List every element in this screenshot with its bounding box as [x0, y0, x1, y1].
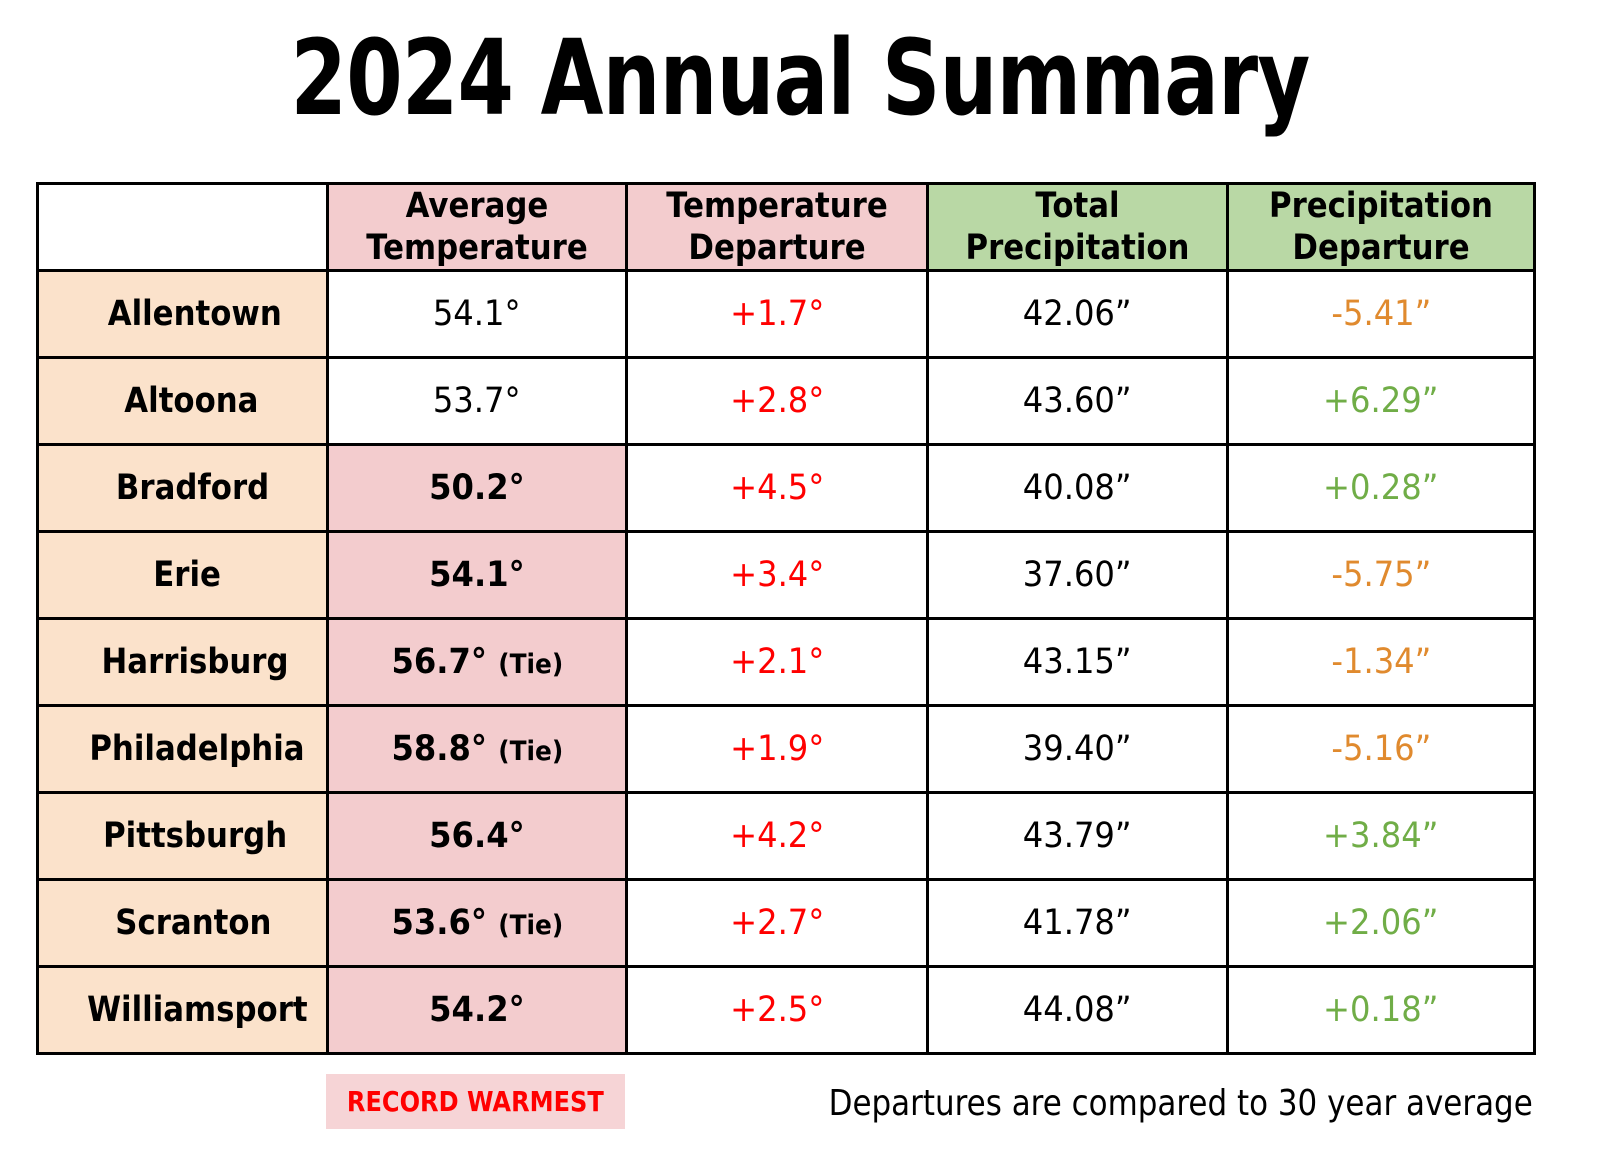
cell-precipitation-departure: +0.18” — [1228, 967, 1535, 1054]
average-temperature-value: 58.8° — [391, 729, 487, 769]
cell-precipitation-departure: -5.75” — [1228, 532, 1535, 619]
cell-precipitation-departure: -5.16” — [1228, 706, 1535, 793]
cell-temperature-departure: +4.5° — [627, 445, 928, 532]
column-header-line: Departure — [688, 228, 865, 268]
cell-average-temperature: 53.7° — [328, 358, 627, 445]
cell-precipitation-departure: +2.06” — [1228, 880, 1535, 967]
average-temperature-value: 56.7° — [391, 642, 487, 682]
corner-cell — [38, 184, 328, 271]
average-temperature-value: 54.2° — [429, 990, 525, 1030]
cell-total-precipitation: 43.60” — [928, 358, 1228, 445]
table-body: Allentown54.1°+1.7°42.06”-5.41”Altoona53… — [38, 271, 1535, 1054]
precipitation-departure-value: +2.06” — [1323, 903, 1438, 943]
cell-average-temperature: 56.7° (Tie) — [328, 619, 627, 706]
cell-average-temperature: 54.1° — [328, 532, 627, 619]
column-header-line: Departure — [1292, 228, 1469, 268]
column-header-line: Precipitation — [966, 228, 1190, 268]
cell-average-temperature: 54.1° — [328, 271, 627, 358]
column-header-precipitation-departure: Precipitation Departure — [1228, 184, 1535, 271]
precipitation-departure-value: +0.18” — [1323, 990, 1438, 1030]
total-precipitation-value: 43.15” — [1023, 642, 1132, 682]
row-header-city: Altoona — [38, 358, 328, 445]
cell-precipitation-departure: -1.34” — [1228, 619, 1535, 706]
tie-annotation: (Tie) — [498, 649, 563, 680]
cell-average-temperature: 56.4° — [328, 793, 627, 880]
table-footer: RECORD WARMEST Departures are compared t… — [36, 1074, 1533, 1136]
city-label: Altoona — [125, 381, 259, 421]
table-row: Erie54.1°+3.4°37.60”-5.75” — [38, 532, 1535, 619]
cell-precipitation-departure: +6.29” — [1228, 358, 1535, 445]
column-header-average-temperature: Average Temperature — [328, 184, 627, 271]
record-warmest-label: RECORD WARMEST — [347, 1085, 604, 1118]
column-header-temperature-departure: Temperature Departure — [627, 184, 928, 271]
cell-average-temperature: 50.2° — [328, 445, 627, 532]
total-precipitation-value: 44.08” — [1023, 990, 1132, 1030]
city-label: Bradford — [116, 468, 269, 508]
total-precipitation-value: 37.60” — [1023, 555, 1132, 595]
temperature-departure-value: +1.9° — [730, 729, 824, 769]
row-header-city: Harrisburg — [38, 619, 328, 706]
table-header-row: Average Temperature Temperature Departur… — [38, 184, 1535, 271]
cell-temperature-departure: +2.7° — [627, 880, 928, 967]
cell-total-precipitation: 43.79” — [928, 793, 1228, 880]
precipitation-departure-value: -1.34” — [1331, 642, 1431, 682]
average-temperature-value: 56.4° — [429, 816, 525, 856]
column-header-line: Total — [1035, 186, 1119, 226]
table-row: Allentown54.1°+1.7°42.06”-5.41” — [38, 271, 1535, 358]
city-label: Erie — [153, 555, 221, 595]
table-row: Altoona53.7°+2.8°43.60”+6.29” — [38, 358, 1535, 445]
average-temperature-value: 53.7° — [433, 381, 521, 421]
city-label: Harrisburg — [102, 642, 289, 682]
average-temperature-value: 54.1° — [433, 294, 521, 334]
table-row: Harrisburg56.7° (Tie)+2.1°43.15”-1.34” — [38, 619, 1535, 706]
row-header-city: Allentown — [38, 271, 328, 358]
table-row: Pittsburgh56.4°+4.2°43.79”+3.84” — [38, 793, 1535, 880]
temperature-departure-value: +2.5° — [730, 990, 824, 1030]
column-header-line: Precipitation — [1269, 186, 1493, 226]
total-precipitation-value: 42.06” — [1023, 294, 1132, 334]
table-row: Philadelphia58.8° (Tie)+1.9°39.40”-5.16” — [38, 706, 1535, 793]
city-label: Pittsburgh — [103, 816, 287, 856]
city-label: Allentown — [107, 294, 281, 334]
annual-summary-page: 2024 Annual Summary Average Temperature — [0, 0, 1600, 1150]
row-header-city: Scranton — [38, 880, 328, 967]
row-header-city: Bradford — [38, 445, 328, 532]
total-precipitation-value: 43.79” — [1023, 816, 1132, 856]
total-precipitation-value: 43.60” — [1023, 381, 1132, 421]
tie-annotation: (Tie) — [498, 736, 563, 767]
cell-average-temperature: 58.8° (Tie) — [328, 706, 627, 793]
total-precipitation-value: 40.08” — [1023, 468, 1132, 508]
cell-total-precipitation: 40.08” — [928, 445, 1228, 532]
cell-precipitation-departure: -5.41” — [1228, 271, 1535, 358]
cell-temperature-departure: +2.8° — [627, 358, 928, 445]
precipitation-departure-value: +3.84” — [1323, 816, 1438, 856]
column-header-line: Temperature — [666, 186, 888, 226]
precipitation-departure-value: -5.16” — [1331, 729, 1431, 769]
total-precipitation-value: 39.40” — [1023, 729, 1132, 769]
average-temperature-value: 54.1° — [429, 555, 525, 595]
cell-total-precipitation: 39.40” — [928, 706, 1228, 793]
tie-annotation: (Tie) — [498, 910, 563, 941]
city-label: Scranton — [115, 903, 271, 943]
annual-summary-table: Average Temperature Temperature Departur… — [36, 182, 1536, 1055]
row-header-city: Williamsport — [38, 967, 328, 1054]
table-row: Scranton53.6° (Tie)+2.7°41.78”+2.06” — [38, 880, 1535, 967]
precipitation-departure-value: -5.75” — [1331, 555, 1431, 595]
row-header-city: Philadelphia — [38, 706, 328, 793]
table-row: Bradford50.2°+4.5°40.08”+0.28” — [38, 445, 1535, 532]
temperature-departure-value: +2.7° — [730, 903, 824, 943]
cell-average-temperature: 53.6° (Tie) — [328, 880, 627, 967]
cell-temperature-departure: +4.2° — [627, 793, 928, 880]
cell-precipitation-departure: +0.28” — [1228, 445, 1535, 532]
cell-temperature-departure: +2.1° — [627, 619, 928, 706]
temperature-departure-value: +4.5° — [730, 468, 824, 508]
column-header-line: Average — [406, 186, 549, 226]
average-temperature-value: 50.2° — [429, 468, 525, 508]
cell-total-precipitation: 37.60” — [928, 532, 1228, 619]
temperature-departure-value: +2.1° — [730, 642, 824, 682]
cell-total-precipitation: 44.08” — [928, 967, 1228, 1054]
column-header-total-precipitation: Total Precipitation — [928, 184, 1228, 271]
cell-total-precipitation: 41.78” — [928, 880, 1228, 967]
cell-total-precipitation: 42.06” — [928, 271, 1228, 358]
precipitation-departure-value: -5.41” — [1331, 294, 1431, 334]
precipitation-departure-value: +0.28” — [1323, 468, 1438, 508]
cell-temperature-departure: +2.5° — [627, 967, 928, 1054]
record-warmest-legend: RECORD WARMEST — [326, 1074, 625, 1129]
temperature-departure-value: +2.8° — [730, 381, 824, 421]
cell-temperature-departure: +1.9° — [627, 706, 928, 793]
city-label: Williamsport — [87, 990, 308, 1030]
footer-note-text: Departures are compared to 30 year avera… — [829, 1083, 1533, 1124]
total-precipitation-value: 41.78” — [1023, 903, 1132, 943]
cell-average-temperature: 54.2° — [328, 967, 627, 1054]
temperature-departure-value: +3.4° — [730, 555, 824, 595]
page-title: 2024 Annual Summary — [176, 18, 1424, 138]
cell-precipitation-departure: +3.84” — [1228, 793, 1535, 880]
table-row: Williamsport54.2°+2.5°44.08”+0.18” — [38, 967, 1535, 1054]
average-temperature-value: 53.6° — [391, 903, 487, 943]
city-label: Philadelphia — [90, 729, 305, 769]
temperature-departure-value: +1.7° — [730, 294, 824, 334]
temperature-departure-value: +4.2° — [730, 816, 824, 856]
row-header-city: Erie — [38, 532, 328, 619]
row-header-city: Pittsburgh — [38, 793, 328, 880]
cell-temperature-departure: +1.7° — [627, 271, 928, 358]
cell-total-precipitation: 43.15” — [928, 619, 1228, 706]
footer-note: Departures are compared to 30 year avera… — [714, 1076, 1533, 1131]
precipitation-departure-value: +6.29” — [1323, 381, 1438, 421]
column-header-line: Temperature — [366, 228, 588, 268]
cell-temperature-departure: +3.4° — [627, 532, 928, 619]
